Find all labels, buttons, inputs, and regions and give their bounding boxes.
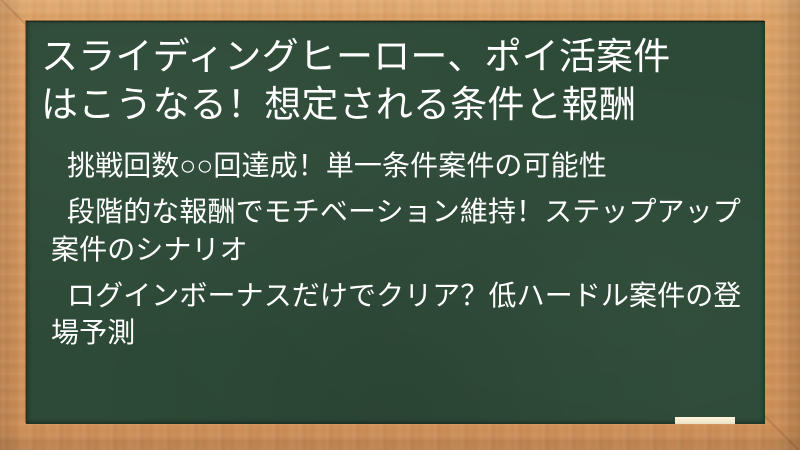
chalk-stick — [675, 417, 735, 424]
list-item: 挑戦回数○○回達成！単一条件案件の可能性 — [51, 147, 745, 184]
list-item: 段階的な報酬でモチベーション維持！ステップアップ案件のシナリオ — [51, 193, 745, 267]
blackboard-slide: スライディングヒーロー、ポイ活案件 はこうなる！想定される条件と報酬 挑戦回数○… — [0, 0, 800, 450]
chalkboard-surface: スライディングヒーロー、ポイ活案件 はこうなる！想定される条件と報酬 挑戦回数○… — [26, 21, 765, 424]
list-item: ログインボーナスだけでクリア？低ハードル案件の登場予測 — [51, 277, 745, 351]
slide-title: スライディングヒーロー、ポイ活案件 はこうなる！想定される条件と報酬 — [37, 29, 751, 129]
board-content: スライディングヒーロー、ポイ活案件 はこうなる！想定される条件と報酬 挑戦回数○… — [26, 21, 765, 351]
key-points-list: 挑戦回数○○回達成！単一条件案件の可能性 段階的な報酬でモチベーション維持！ステ… — [37, 147, 751, 351]
